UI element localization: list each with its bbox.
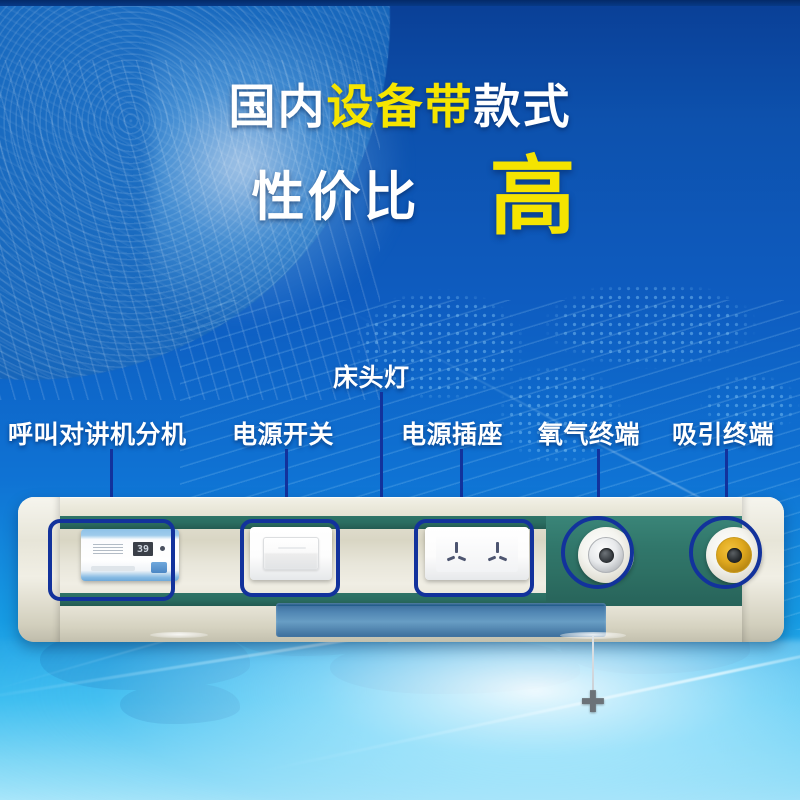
intercom-display: 39 — [133, 542, 153, 556]
background-bottom-glow — [0, 640, 800, 800]
callout-label-power-switch: 电源开关 — [232, 415, 334, 451]
power-switch-rocker[interactable] — [263, 537, 319, 570]
suction-terminal[interactable] — [706, 527, 762, 583]
callout-label-power-socket: 电源插座 — [401, 415, 503, 451]
oxygen-terminal[interactable] — [578, 527, 634, 583]
panel-equipment-rail — [276, 603, 606, 637]
pull-cord-handle-icon[interactable]: ✚ — [578, 688, 608, 718]
headline-line-2: 性价比 高 — [0, 157, 800, 239]
callout-label-oxygen-terminal: 氧气终端 — [538, 415, 640, 451]
headline-text-domestic: 国内 — [229, 80, 327, 135]
callout-label-suction-terminal: 吸引终端 — [672, 415, 774, 451]
panel-end-cap-left — [18, 497, 60, 642]
nurse-call-intercom[interactable]: 39 — [81, 529, 179, 581]
headline-line-1: 国内设备带款式 — [0, 84, 800, 131]
cord-anchor-left — [150, 632, 208, 638]
panel-body: 39 — [18, 497, 784, 642]
suction-terminal-ring — [716, 537, 752, 573]
headline-block: 国内设备带款式 性价比 高 — [0, 84, 800, 239]
oxygen-terminal-port[interactable] — [599, 548, 614, 563]
suction-terminal-port[interactable] — [727, 548, 742, 563]
product-banner: 国内设备带款式 性价比 高 呼叫对讲机分机 电源开关 床头灯 电源插座 氧气终端… — [0, 0, 800, 800]
bed-head-unit-panel: 39 — [18, 497, 784, 642]
intercom-speaker-grille-icon — [93, 544, 123, 556]
power-socket-face — [436, 535, 518, 572]
callout-label-nurse-call-intercom: 呼叫对讲机分机 — [8, 415, 187, 451]
intercom-indicator-led-icon — [160, 546, 165, 551]
socket-port-left[interactable] — [442, 540, 472, 568]
background-top-strip — [0, 0, 800, 6]
headline-text-equipment-belt: 设备带 — [327, 80, 474, 135]
socket-port-right[interactable] — [483, 540, 513, 568]
headline-text-value-ratio: 性价比 — [252, 171, 420, 224]
power-socket[interactable] — [425, 527, 529, 580]
intercom-card-slot — [91, 566, 135, 571]
headline-text-style: 款式 — [474, 80, 572, 135]
headline-text-high: 高 — [490, 157, 579, 239]
power-switch[interactable] — [250, 527, 332, 580]
callout-label-bed-head-lamp: 床头灯 — [333, 358, 410, 394]
intercom-call-button[interactable] — [151, 562, 167, 573]
oxygen-terminal-ring — [588, 537, 624, 573]
